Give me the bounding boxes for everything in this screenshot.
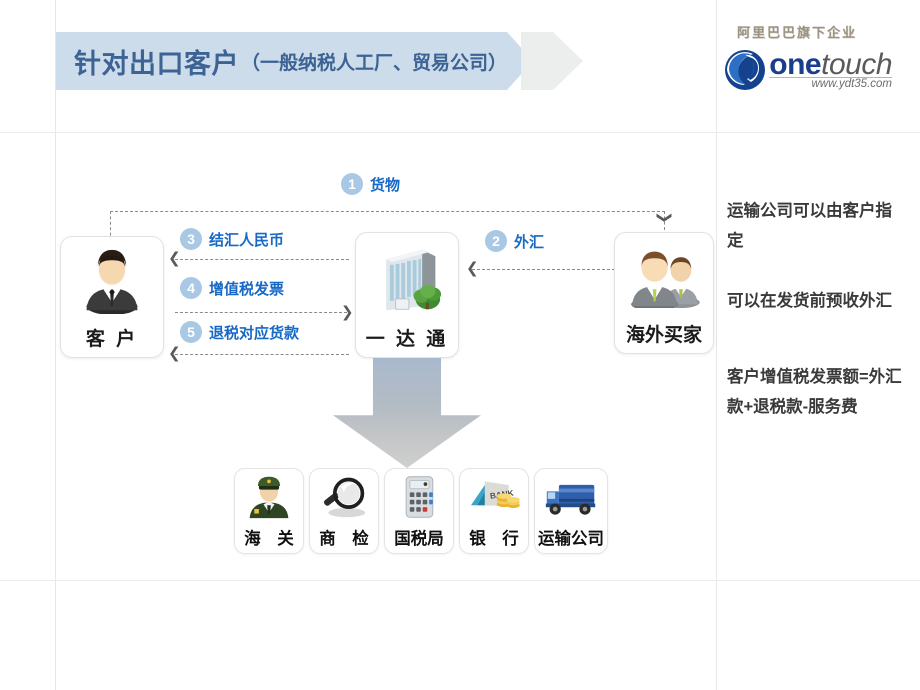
two-businessmen-icon (615, 233, 713, 320)
guide-line-vertical-left (55, 0, 56, 690)
entity-label-overseas-buyer: 海外买家 (626, 320, 702, 347)
note-3: 客户增值税发票额=外汇款+退税款-服务费 (727, 362, 907, 422)
rmb-arrowhead-icon: ❯ (168, 252, 181, 267)
vat-arrowhead-icon: ❯ (341, 305, 354, 320)
bank-money-icon: BANK (468, 469, 520, 525)
flow-text-3: 结汇人民币 (209, 229, 284, 250)
flow-badge-4: 4 (180, 277, 202, 299)
agency-label-customs: 海 关 (244, 525, 294, 549)
note-2: 可以在发货前预收外汇 (727, 286, 907, 316)
title-banner-tail (521, 32, 583, 90)
flow-label-3: 3 结汇人民币 (180, 228, 284, 250)
onetouch-logo-icon (723, 48, 767, 92)
logo-word-one: one (769, 48, 821, 81)
magnifier-icon (319, 469, 369, 525)
flow-badge-1: 1 (341, 173, 363, 195)
flow-text-1: 货物 (370, 174, 400, 195)
flow-label-2: 2 外汇 (485, 230, 544, 252)
title-banner-blue: 针对出口客户 （一般纳税人工厂、贸易公司） (56, 32, 533, 90)
guide-line-horizontal-bottom (0, 580, 920, 581)
agency-label-transport: 运输公司 (538, 525, 604, 549)
flow-text-4: 增值税发票 (209, 278, 284, 299)
goods-path-segment-across (110, 211, 665, 212)
fx-arrowhead-icon: ❯ (466, 262, 479, 277)
brand-logo: 阿里巴巴旗下企业 onetouch www.ydt35.com (702, 22, 892, 92)
agency-label-bank: 银 行 (469, 525, 519, 549)
page-subtitle: （一般纳税人工厂、贸易公司） (241, 48, 507, 75)
entity-box-yidatong[interactable]: 一 达 通 (355, 232, 459, 358)
calculator-icon (394, 469, 444, 525)
agency-box-tax-bureau[interactable]: 国税局 (384, 468, 454, 554)
fx-path (472, 269, 615, 270)
agency-box-inspection[interactable]: 商 检 (309, 468, 379, 554)
entity-label-yidatong: 一 达 通 (366, 324, 449, 351)
logo-tagline: 阿里巴巴旗下企业 (702, 22, 892, 41)
refund-path (175, 354, 349, 355)
flow-badge-3: 3 (180, 228, 202, 250)
agency-label-tax-bureau: 国税局 (394, 525, 444, 549)
businessman-icon (61, 237, 163, 324)
slide-canvas: 针对出口客户 （一般纳税人工厂、贸易公司） 阿里巴巴旗下企业 onetouch (0, 0, 920, 690)
rmb-path (175, 259, 349, 260)
agency-box-bank[interactable]: BANK 银 行 (459, 468, 529, 554)
flow-label-4: 4 增值税发票 (180, 277, 284, 299)
guide-line-vertical-right (716, 0, 717, 690)
flow-badge-2: 2 (485, 230, 507, 252)
logo-word-touch: touch (821, 48, 892, 81)
entity-box-customer[interactable]: 客 户 (60, 236, 164, 358)
flow-text-2: 外汇 (514, 231, 544, 252)
flow-text-5: 退税对应货款 (209, 322, 299, 343)
vat-path (175, 312, 347, 313)
flow-label-1: 1 货物 (341, 173, 400, 195)
refund-arrowhead-icon: ❯ (168, 347, 181, 362)
flow-label-5: 5 退税对应货款 (180, 321, 299, 343)
office-building-icon (356, 233, 458, 324)
agency-box-transport[interactable]: 运输公司 (534, 468, 608, 554)
agency-label-inspection: 商 检 (319, 525, 369, 549)
flow-badge-5: 5 (180, 321, 202, 343)
entity-label-customer: 客 户 (86, 324, 138, 351)
notes-panel: 运输公司可以由客户指定 可以在发货前预收外汇 客户增值税发票额=外汇款+退税款-… (727, 196, 907, 422)
page-title: 针对出口客户 (74, 42, 239, 81)
goods-arrowhead-icon: ❯ (657, 211, 672, 224)
downward-flow-arrow (333, 358, 481, 468)
title-banner: 针对出口客户 （一般纳税人工厂、贸易公司） (56, 32, 583, 90)
note-1: 运输公司可以由客户指定 (727, 196, 907, 256)
truck-icon (544, 469, 598, 525)
entity-box-overseas-buyer[interactable]: 海外买家 (614, 232, 714, 354)
guide-line-horizontal-top (0, 132, 920, 133)
agency-box-customs[interactable]: 海 关 (234, 468, 304, 554)
customs-officer-icon (244, 469, 294, 525)
